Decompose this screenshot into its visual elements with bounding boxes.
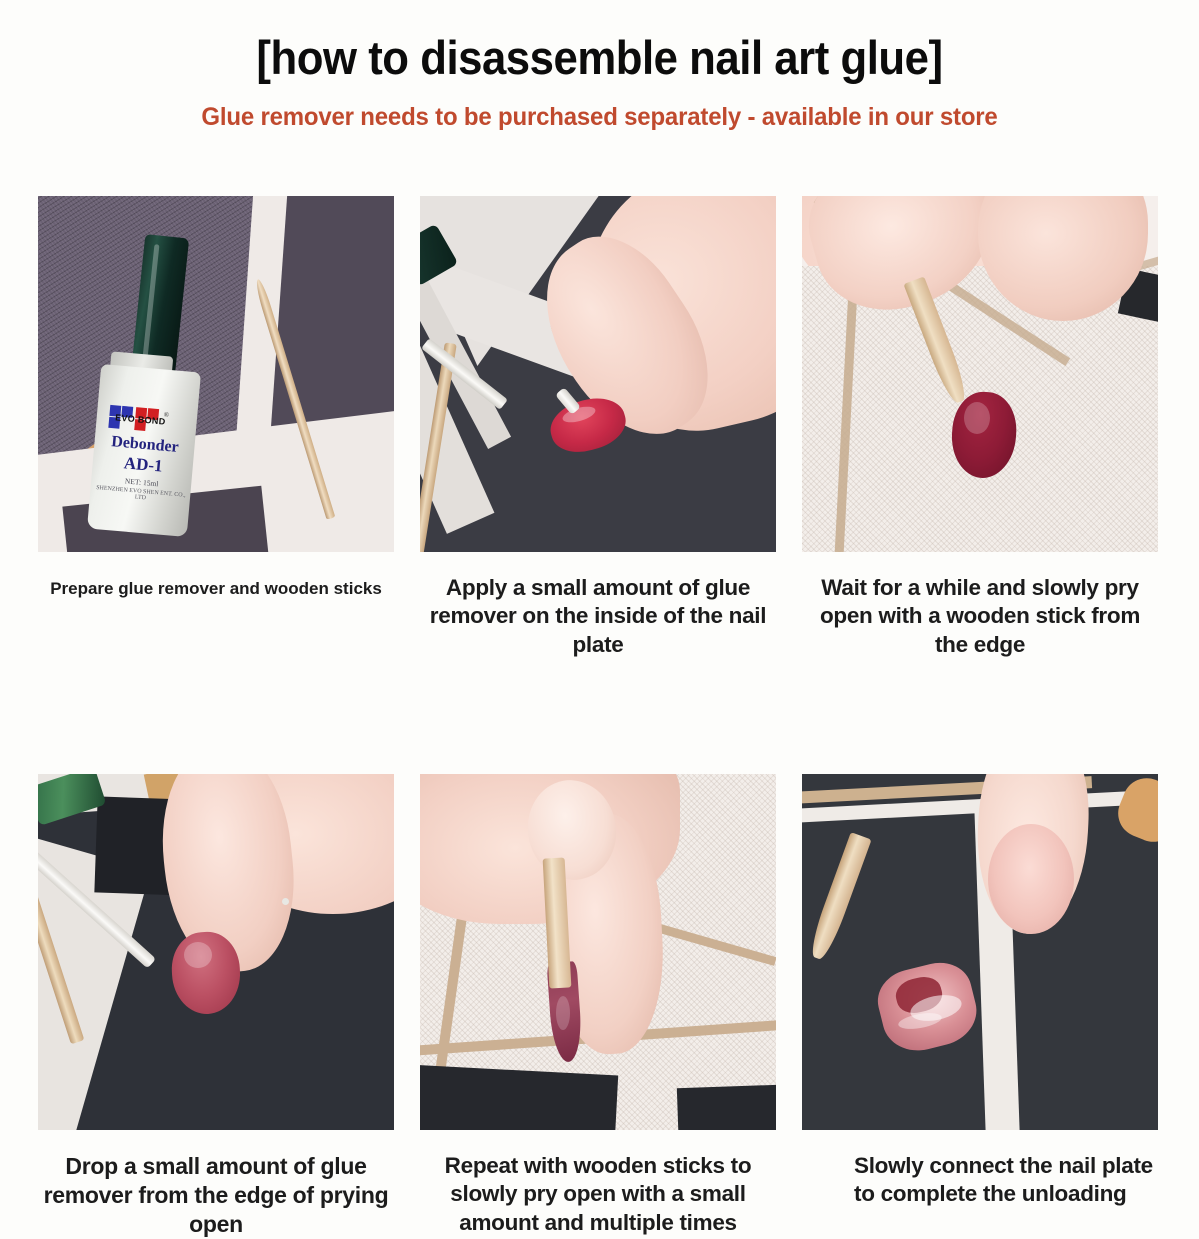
steps-row-top: EVO BOND ® Debonder AD-1 NET: 15ml SHENZ… bbox=[0, 196, 1199, 659]
step-caption-2: Apply a small amount of glue remover on … bbox=[420, 574, 776, 659]
natural-fingernail bbox=[988, 824, 1074, 934]
step-caption-6: Slowly connect the nail plate to complet… bbox=[802, 1152, 1158, 1209]
step-caption-5: Repeat with wooden sticks to slowly pry … bbox=[420, 1152, 776, 1237]
step-photo-3 bbox=[802, 196, 1158, 552]
step-photo-6 bbox=[802, 774, 1158, 1130]
step-card-4: Drop a small amount of glue remover from… bbox=[38, 774, 394, 1239]
step-caption-4: Drop a small amount of glue remover from… bbox=[38, 1152, 394, 1239]
step-card-3: Wait for a while and slowly pry open wit… bbox=[802, 196, 1158, 659]
header: [how to disassemble nail art glue] Glue … bbox=[0, 0, 1199, 132]
nail-highlight bbox=[964, 402, 990, 434]
registered-mark-icon: ® bbox=[163, 411, 169, 419]
bottle-label: EVO BOND ® Debonder AD-1 NET: 15ml SHENZ… bbox=[91, 398, 196, 514]
step-photo-1: EVO BOND ® Debonder AD-1 NET: 15ml SHENZ… bbox=[38, 196, 394, 552]
step-photo-2 bbox=[420, 196, 776, 552]
background-dark-bottom-right bbox=[677, 1084, 776, 1130]
step-caption-3: Wait for a while and slowly pry open wit… bbox=[802, 574, 1158, 659]
steps-grid: EVO BOND ® Debonder AD-1 NET: 15ml SHENZ… bbox=[0, 196, 1199, 1239]
step-card-1: EVO BOND ® Debonder AD-1 NET: 15ml SHENZ… bbox=[38, 196, 394, 659]
steps-row-bottom: Drop a small amount of glue remover from… bbox=[0, 774, 1199, 1239]
step-card-6: Slowly connect the nail plate to complet… bbox=[802, 774, 1158, 1239]
page-subtitle: Glue remover needs to be purchased separ… bbox=[24, 103, 1175, 132]
nail-highlight bbox=[556, 996, 570, 1030]
step-photo-5 bbox=[420, 774, 776, 1130]
step-card-2: Apply a small amount of glue remover on … bbox=[420, 196, 776, 659]
step-caption-1: Prepare glue remover and wooden sticks bbox=[38, 578, 394, 599]
background-speck bbox=[282, 898, 289, 905]
page-title: [how to disassemble nail art glue] bbox=[42, 34, 1157, 81]
step-card-5: Repeat with wooden sticks to slowly pry … bbox=[420, 774, 776, 1239]
nail-highlight bbox=[184, 942, 212, 968]
background-dark-bottom-left bbox=[420, 1065, 618, 1130]
step-photo-4 bbox=[38, 774, 394, 1130]
